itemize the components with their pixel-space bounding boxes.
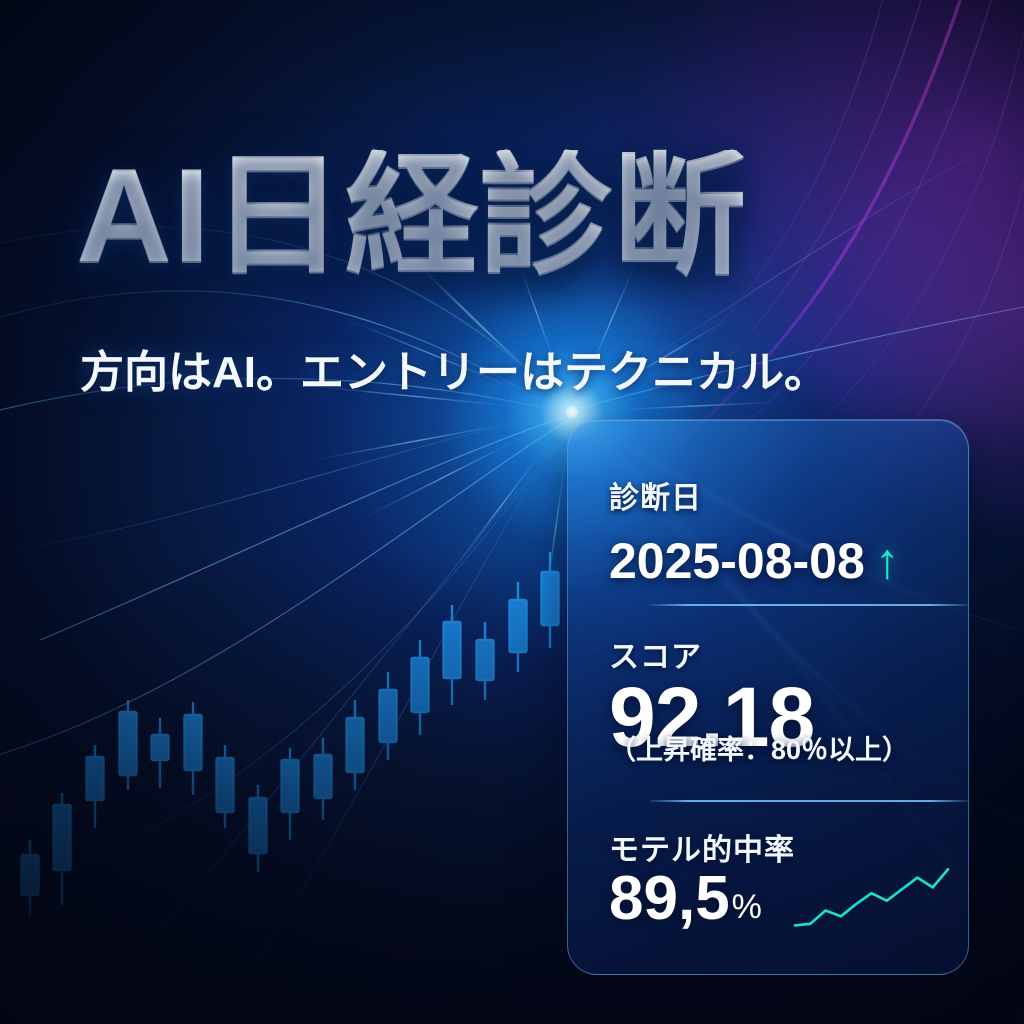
accuracy-value: 89,5 (609, 868, 730, 930)
page-title: AI日経診断 (76, 150, 956, 283)
page-subtitle: 方向はAI。エントリーはテクニカル。 (80, 336, 828, 400)
date-value-row: 2025-08-08 ↑ (609, 532, 900, 590)
divider-top (650, 604, 968, 606)
arrow-up-icon: ↑ (875, 536, 900, 586)
divider-bottom (650, 800, 968, 802)
accuracy-value-row: 89,5 % (609, 868, 762, 930)
accuracy-unit: % (732, 890, 762, 930)
date-value: 2025-08-08 (609, 532, 865, 590)
accuracy-label: モテル的中率 (609, 825, 795, 869)
score-note: （上昇確率：80％以上） (609, 728, 909, 767)
poster-canvas: AI日経診断 方向はAI。エントリーはテクニカル。 診断日 2025-08-08… (0, 0, 1024, 1024)
date-label: 診断日 (609, 473, 702, 517)
accuracy-sparkline (789, 860, 954, 938)
diagnosis-card: 診断日 2025-08-08 ↑ スコア 92.18 （上昇確率：80％以上） … (567, 419, 969, 975)
